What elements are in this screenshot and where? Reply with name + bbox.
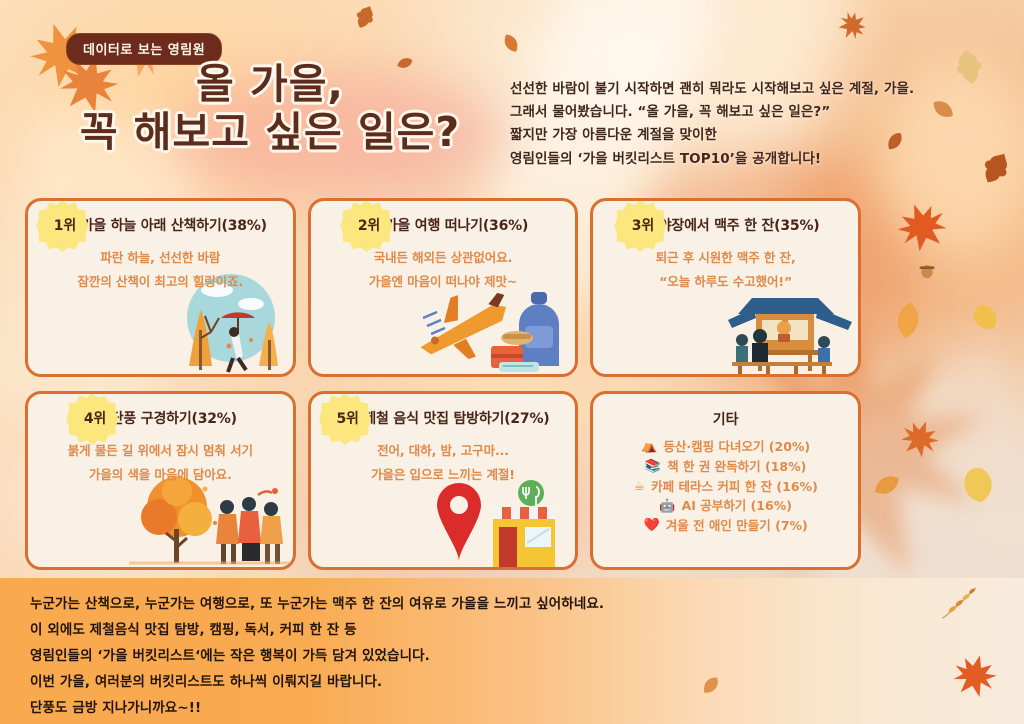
rank-card-3-title: 야장에서 맥주 한 잔(35%) [659,218,820,234]
rank-card-5-heading: 5위 제철 음식 맛집 탐방하기(27%) [311,394,576,428]
card-body-line: 국내든 해외든 상관없어요. [311,246,576,270]
rank-label: 5위 [336,411,358,427]
rank-badge-3: 3위 [632,215,654,235]
rank-label: 3위 [632,218,654,234]
list-item[interactable]: ⛺ 등산·캠핑 다녀오기 (20%) [603,437,848,457]
rank-card-4-heading: 4위 단풍 구경하기(32%) [28,394,293,428]
intro-line: 선선한 바람이 불기 시작하면 괜히 뭐라도 시작해보고 싶은 계절, 가을. [510,78,1010,101]
rank-badge-4: 4위 [84,408,106,428]
acorn-icon [916,258,938,280]
leaf-icon [696,670,727,701]
maple-leaf-icon [947,647,1003,703]
red-heart-icon: ❤️ [644,519,660,532]
card-body-line: “오늘 하루도 수고했어!” [593,270,858,294]
rank-card-5[interactable]: 5위 제철 음식 맛집 탐방하기(27%) 전어, 대하, 밤, 고구마... … [308,391,579,570]
others-item-label: 겨울 전 애인 만들기 (7%) [666,516,808,536]
rank-card-4-title: 단풍 구경하기(32%) [111,411,237,427]
others-list: ⛺ 등산·캠핑 다녀오기 (20%) 📚 책 한 권 완독하기 (18%) ☕ … [593,437,858,536]
rank-card-3-heading: 3위 야장에서 맥주 한 잔(35%) [593,201,858,235]
rank-card-1-heading: 1위 가을 하늘 아래 산책하기(38%) [28,201,293,235]
rank-card-2-heading: 2위 가을 여행 떠나기(36%) [311,201,576,235]
rank-card-4[interactable]: 4위 단풍 구경하기(32%) 붉게 물든 길 위에서 잠시 멈춰 서기 가을의… [25,391,296,570]
list-item[interactable]: 📚 책 한 권 완독하기 (18%) [603,457,848,477]
rank-card-1[interactable]: 1위 가을 하늘 아래 산책하기(38%) 파란 하늘, 선선한 바람 잠깐의 … [25,198,296,377]
page-title-line-1: 올 가을, [196,60,344,108]
rank-label: 4위 [84,411,106,427]
footer-line: 이번 가을, 여러분의 버킷리스트도 하나씩 이뤄지길 바랍니다. [30,670,690,696]
header: 데이터로 보는 영림원 올 가을, 꼭 해보고 싶은 일은? 선선한 바람이 불… [0,0,1024,190]
intro-paragraph: 선선한 바람이 불기 시작하면 괜히 뭐라도 시작해보고 싶은 계절, 가을. … [510,78,1010,171]
list-item[interactable]: 🤖 AI 공부하기 (16%) [603,496,848,516]
others-item-label: AI 공부하기 (16%) [682,496,792,516]
rank-card-3[interactable]: 3위 야장에서 맥주 한 잔(35%) 퇴근 후 시원한 맥주 한 잔, “오늘… [590,198,861,377]
leaf-icon [885,297,930,342]
rank-label: 1위 [54,218,76,234]
rank-card-2-body: 국내든 해외든 상관없어요. 가을엔 마음이 떠나야 제맛~ [311,246,576,295]
footer-band: 누군가는 산책으로, 누군가는 여행으로, 또 누군가는 맥주 한 잔의 여유로… [0,578,1024,724]
rank-card-2-title: 가을 여행 떠나기(36%) [385,218,528,234]
list-item[interactable]: ❤️ 겨울 전 애인 만들기 (7%) [603,516,848,536]
rank-card-1-body: 파란 하늘, 선선한 바람 잠깐의 산책이 최고의 힐링이죠. [28,246,293,295]
footer-line: 단풍도 금방 지나가니까요~!! [30,696,690,722]
footer-paragraph: 누군가는 산책으로, 누군가는 여행으로, 또 누군가는 맥주 한 잔의 여유로… [30,592,690,722]
rank-badge-5: 5위 [336,408,358,428]
others-card[interactable]: 기타 ⛺ 등산·캠핑 다녀오기 (20%) 📚 책 한 권 완독하기 (18%)… [590,391,861,570]
rank-card-3-body: 퇴근 후 시원한 맥주 한 잔, “오늘 하루도 수고했어!” [593,246,858,295]
page-title: 올 가을, 꼭 해보고 싶은 일은? [40,60,500,157]
page-title-line-2: 꼭 해보고 싶은 일은? [40,108,500,156]
rank-card-5-title: 제철 음식 맛집 탐방하기(27%) [363,411,549,427]
coffee-cup-icon: ☕ [634,480,646,493]
others-title: 기타 [593,394,858,429]
bucketlist-card-grid: 1위 가을 하늘 아래 산책하기(38%) 파란 하늘, 선선한 바람 잠깐의 … [25,198,861,570]
card-body-line: 가을엔 마음이 떠나야 제맛~ [311,270,576,294]
card-body-line: 전어, 대하, 밤, 고구마... [311,439,576,463]
footer-line: 영림인들의 ‘가을 버킷리스트‘에는 작은 행복이 가득 담겨 있었습니다. [30,644,690,670]
robot-ai-icon: 🤖 [659,500,675,513]
rank-card-4-body: 붉게 물든 길 위에서 잠시 멈춰 서기 가을의 색을 마음에 담아요. [28,439,293,488]
intro-line: 그래서 물어봤습니다. “올 가을, 꼭 해보고 싶은 일은?” [510,101,1010,124]
others-item-label: 등산·캠핑 다녀오기 (20%) [663,437,810,457]
card-body-line: 잠깐의 산책이 최고의 힐링이죠. [28,270,293,294]
intro-line: 영림인들의 ‘가을 버킷리스트 TOP10’을 공개합니다! [510,148,1010,171]
card-body-line: 퇴근 후 시원한 맥주 한 잔, [593,246,858,270]
card-body-line: 가을은 입으로 느끼는 계절! [311,463,576,487]
branch-leaves-icon [936,583,984,623]
rank-badge-2: 2위 [358,215,380,235]
card-body-line: 가을의 색을 마음에 담아요. [28,463,293,487]
rank-card-2[interactable]: 2위 가을 여행 떠나기(36%) 국내든 해외든 상관없어요. 가을엔 마음이… [308,198,579,377]
rank-card-1-title: 가을 하늘 아래 산책하기(38%) [81,218,267,234]
rank-label: 2위 [358,218,380,234]
card-body-line: 붉게 물든 길 위에서 잠시 멈춰 서기 [28,439,293,463]
rank-badge-1: 1위 [54,215,76,235]
others-item-label: 책 한 권 완독하기 (18%) [667,457,806,477]
others-item-label: 카페 테라스 커피 한 잔 (16%) [651,477,818,497]
intro-line: 짧지만 가장 아름다운 계절을 맞이한 [510,124,1010,147]
ginkgo-leaf-icon [953,459,1004,510]
list-item[interactable]: ☕ 카페 테라스 커피 한 잔 (16%) [603,477,848,497]
footer-line: 이 외에도 제철음식 맛집 탐방, 캠핑, 독서, 커피 한 잔 등 [30,618,690,644]
card-body-line: 파란 하늘, 선선한 바람 [28,246,293,270]
tent-camping-icon: ⛺ [641,440,657,453]
books-icon: 📚 [645,460,661,473]
rank-card-5-body: 전어, 대하, 밤, 고구마... 가을은 입으로 느끼는 계절! [311,439,576,488]
footer-line: 누군가는 산책으로, 누군가는 여행으로, 또 누군가는 맥주 한 잔의 여유로… [30,592,690,618]
